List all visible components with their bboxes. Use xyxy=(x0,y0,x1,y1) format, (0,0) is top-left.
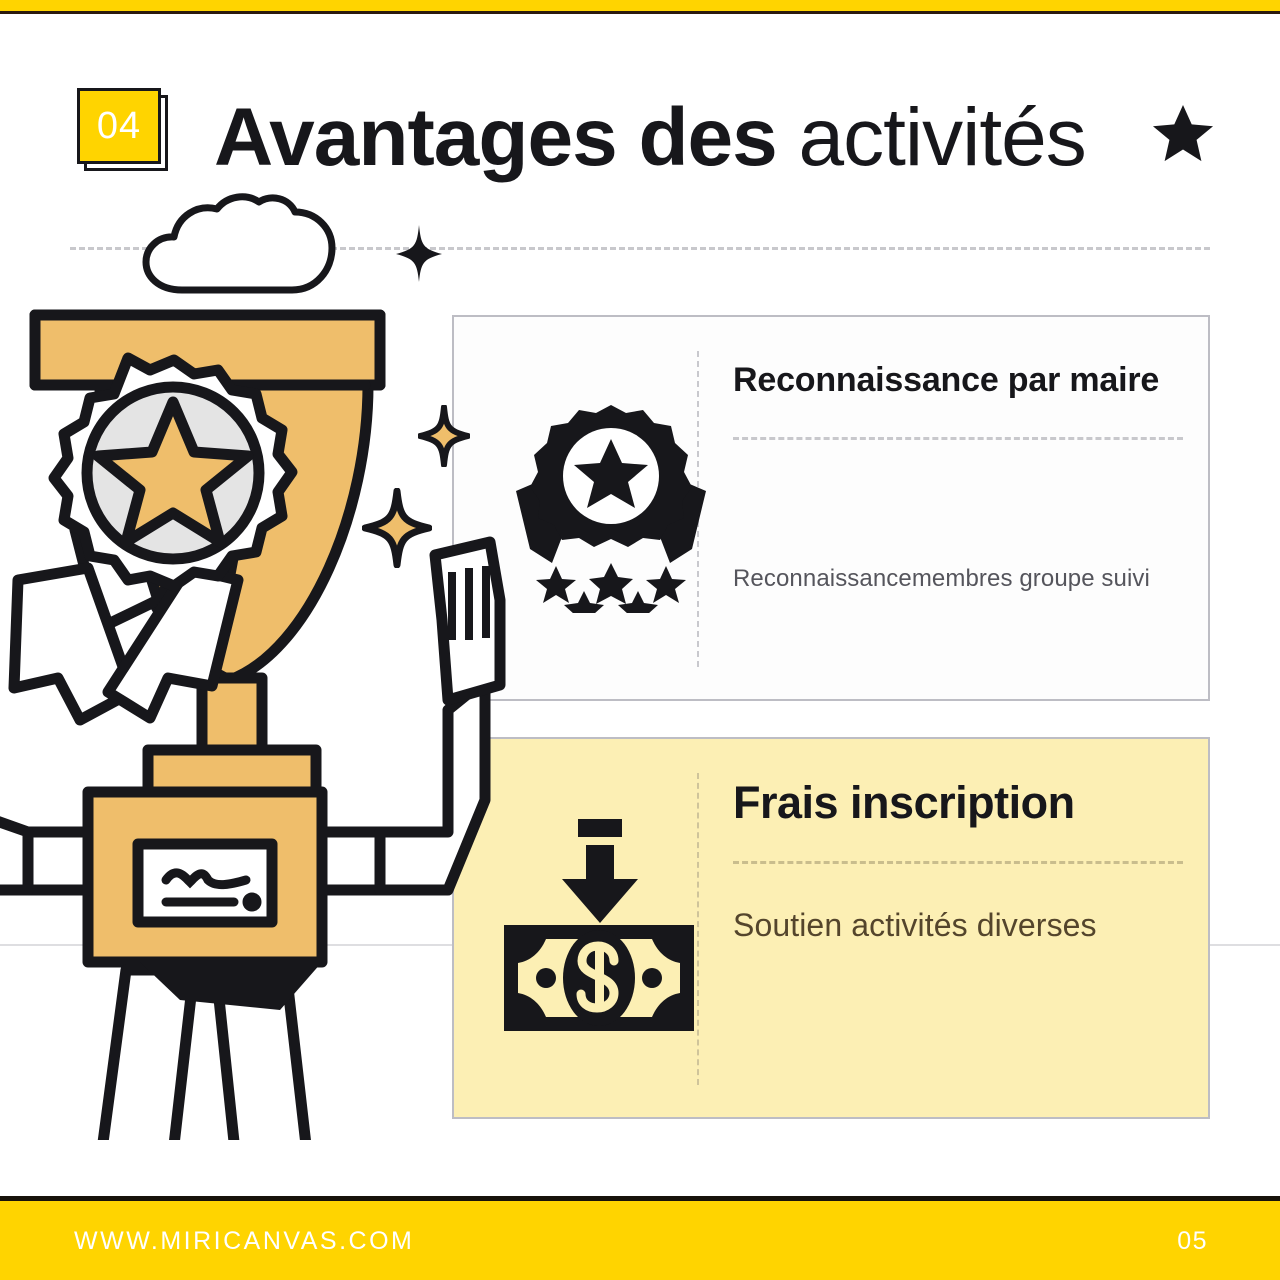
page-title-light: activités xyxy=(777,92,1086,183)
money-banknote-down-arrow-icon xyxy=(494,819,704,1049)
page-title: Avantages des activités xyxy=(214,96,1086,180)
footer-page-number: 05 xyxy=(1177,1227,1208,1256)
sparkle-icon xyxy=(395,225,443,283)
cloud-icon xyxy=(140,190,340,300)
section-number-label: 04 xyxy=(80,91,158,161)
slide-canvas: 04 Avantages des activités xyxy=(0,0,1280,1280)
card-title: Reconnaissance par maire xyxy=(733,361,1159,400)
card-description: Reconnaissancemembres groupe suivi xyxy=(733,565,1150,593)
award-medal-stars-icon xyxy=(516,403,706,613)
card-dashed-rule xyxy=(733,437,1183,440)
top-accent-strip xyxy=(0,0,1280,11)
star-icon xyxy=(1152,103,1214,165)
benefit-card-registration-fee[interactable]: Frais inscription Soutien activités dive… xyxy=(452,737,1210,1119)
card-dashed-rule xyxy=(733,861,1183,864)
sparkle-icon xyxy=(418,405,470,467)
sparkle-icon xyxy=(362,488,432,568)
section-number-badge: 04 xyxy=(77,88,161,164)
page-title-bold: Avantages des xyxy=(214,92,777,183)
trophy-mascot-character xyxy=(0,180,520,1140)
benefit-card-recognition[interactable]: Reconnaissance par maire Reconnaissancem… xyxy=(452,315,1210,701)
card-description: Soutien activités diverses xyxy=(733,907,1097,944)
top-accent-rule xyxy=(0,11,1280,14)
footer-website-url[interactable]: WWW.MIRICANVAS.COM xyxy=(74,1227,414,1256)
card-title: Frais inscription xyxy=(733,777,1075,829)
